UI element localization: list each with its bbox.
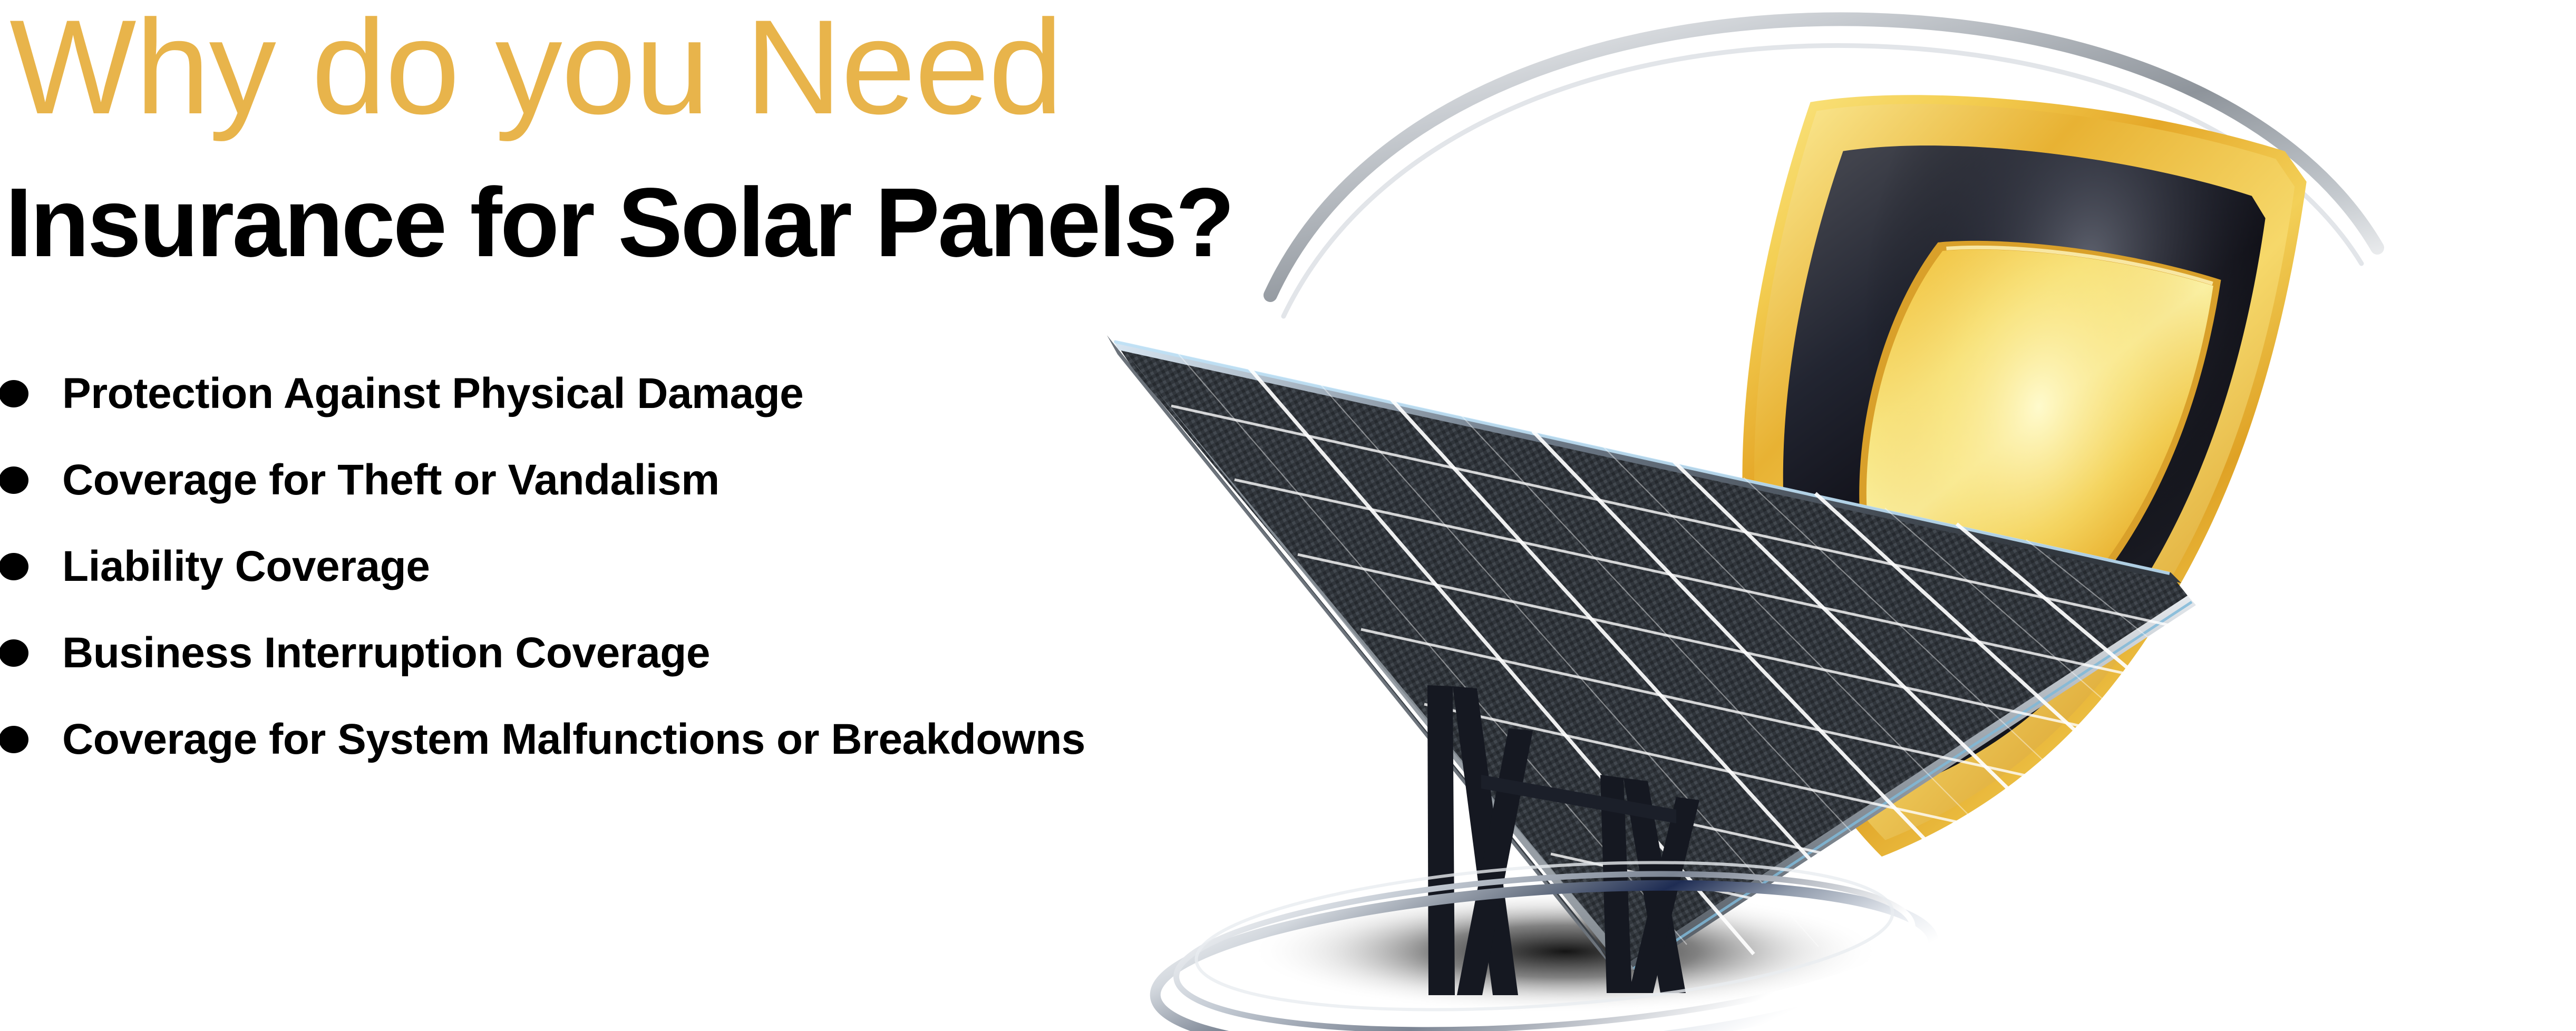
list-item-label: Business Interruption Coverage (62, 631, 710, 675)
page-title-gold: Why do you Need (9, 0, 1062, 134)
list-item-label: Liability Coverage (62, 545, 430, 588)
page-title-black: Insurance for Solar Panels? (5, 174, 1233, 272)
list-item: Coverage for Theft or Vandalism (0, 437, 1085, 523)
bullet-dot-icon (0, 380, 28, 407)
bullet-dot-icon (0, 553, 28, 580)
bullet-dot-icon (0, 639, 28, 667)
text-block: Why do you Need Insurance for Solar Pane… (0, 0, 1423, 791)
list-item-label: Coverage for Theft or Vandalism (62, 459, 720, 502)
bullet-dot-icon (0, 466, 28, 494)
bullet-dot-icon (0, 726, 28, 753)
list-item-label: Protection Against Physical Damage (62, 372, 803, 415)
benefits-list: Protection Against Physical Damage Cover… (0, 351, 1085, 783)
list-item: Liability Coverage (0, 523, 1085, 610)
list-item: Coverage for System Malfunctions or Brea… (0, 696, 1085, 783)
list-item-label: Coverage for System Malfunctions or Brea… (62, 718, 1085, 761)
list-item: Business Interruption Coverage (0, 610, 1085, 696)
list-item: Protection Against Physical Damage (0, 351, 1085, 437)
